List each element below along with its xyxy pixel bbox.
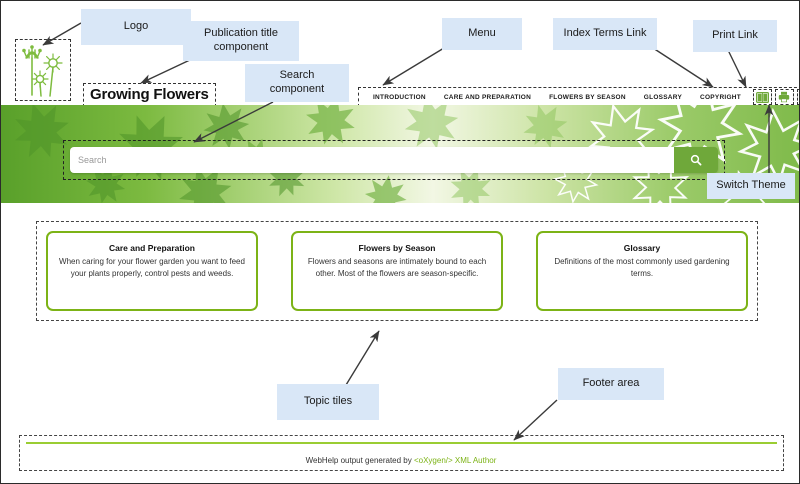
topic-tile[interactable]: Care and Preparation When caring for you…	[46, 231, 258, 311]
arrow-footer-area	[514, 400, 557, 440]
topic-tiles-container: Care and Preparation When caring for you…	[36, 221, 758, 321]
callout-index-terms: Index Terms Link	[553, 18, 657, 50]
menu-item-copyright[interactable]: COPYRIGHT	[700, 94, 741, 101]
callout-footer-area: Footer area	[558, 368, 664, 400]
callout-publication-title: Publication title component	[183, 21, 299, 61]
callout-print: Print Link	[693, 20, 777, 52]
callout-topic-tiles: Topic tiles	[277, 384, 379, 420]
footer-link[interactable]: <oXygen/> XML Author	[414, 456, 496, 465]
tile-title: Flowers by Season	[302, 243, 492, 253]
search-component	[70, 147, 718, 173]
search-icon	[690, 154, 702, 166]
menu-item-glossary[interactable]: GLOSSARY	[644, 94, 682, 101]
footer-divider	[26, 442, 777, 444]
tile-description: Flowers and seasons are intimately bound…	[302, 256, 492, 279]
logo[interactable]	[15, 39, 71, 101]
callout-search: Search component	[245, 64, 349, 102]
callout-logo: Logo	[81, 9, 191, 45]
publication-title[interactable]: Growing Flowers	[83, 83, 216, 107]
tile-description: When caring for your flower garden you w…	[57, 256, 247, 279]
tile-title: Glossary	[547, 243, 737, 253]
print-icon	[778, 91, 790, 103]
search-button[interactable]	[674, 147, 718, 173]
menu-item-flowers-by-season[interactable]: FLOWERS BY SEASON	[549, 94, 626, 101]
menu-item-introduction[interactable]: INTRODUCTION	[373, 94, 426, 101]
callout-switch-theme: Switch Theme	[707, 173, 795, 199]
annotated-webhelp-screenshot: Growing Flowers INTRODUCTION CARE AND PR…	[0, 0, 800, 484]
search-input[interactable]	[70, 147, 674, 173]
menu-item-care-and-preparation[interactable]: CARE AND PREPARATION	[444, 94, 531, 101]
footer-prefix: WebHelp output generated by	[306, 456, 414, 465]
tile-description: Definitions of the most commonly used ga…	[547, 256, 737, 279]
topic-tile[interactable]: Flowers by Season Flowers and seasons ar…	[291, 231, 503, 311]
footer-text: WebHelp output generated by <oXygen/> XM…	[1, 456, 800, 465]
tile-title: Care and Preparation	[57, 243, 247, 253]
index-terms-icon	[756, 92, 769, 103]
flowers-logo-icon	[16, 40, 70, 100]
footer-annotation-box	[19, 435, 784, 471]
print-link[interactable]	[775, 89, 794, 105]
topic-tile[interactable]: Glossary Definitions of the most commonl…	[536, 231, 748, 311]
callout-menu: Menu	[442, 18, 522, 50]
main-menu: INTRODUCTION CARE AND PREPARATION FLOWER…	[358, 87, 800, 107]
arrow-topic-tiles	[346, 331, 379, 385]
index-terms-link[interactable]	[753, 89, 772, 105]
